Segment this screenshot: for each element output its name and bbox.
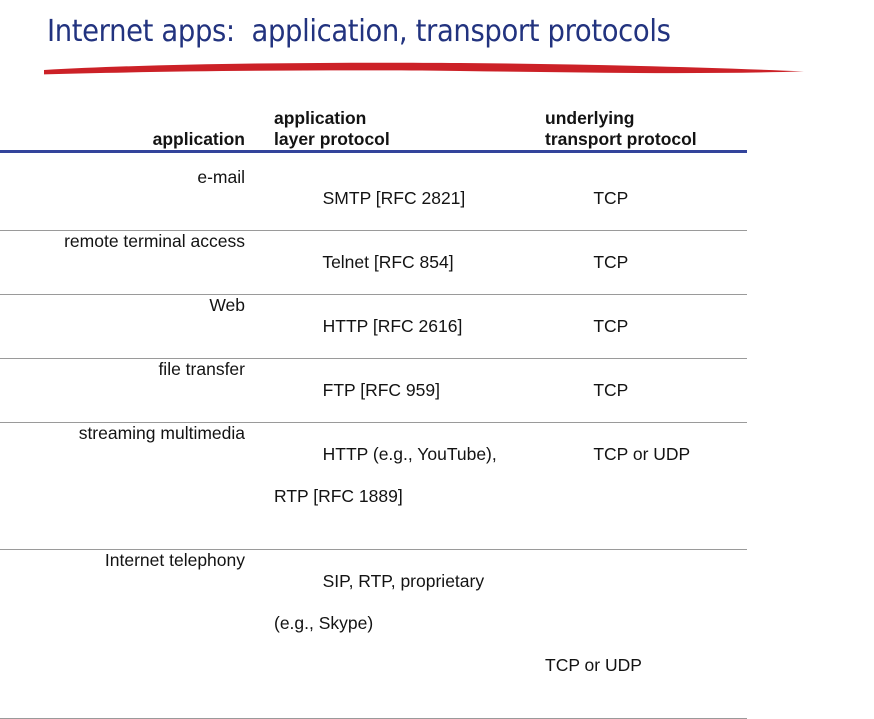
header-spacer-row [0, 152, 747, 168]
table-row: streaming multimedia HTTP (e.g., YouTube… [0, 423, 747, 550]
cell-transport-line1: TCP or UDP [593, 444, 690, 464]
cell-transport: TCP [532, 167, 747, 231]
cell-protocol: SMTP [RFC 2821] [264, 167, 532, 231]
header-spacer-cell-2 [264, 152, 532, 168]
red-underline-stroke [40, 58, 810, 80]
cell-transport-line1: TCP [593, 188, 628, 208]
cell-protocol-line1: SMTP [RFC 2821] [323, 188, 466, 208]
cell-protocol: Telnet [RFC 854] [264, 231, 532, 295]
cell-transport: TCP [532, 295, 747, 359]
table-row: remote terminal access Telnet [RFC 854] … [0, 231, 747, 295]
column-header-app-layer-protocol: application layer protocol [264, 108, 532, 152]
cell-protocol: SIP, RTP, proprietary (e.g., Skype) [264, 550, 532, 719]
column-header-application-line1 [0, 108, 245, 129]
cell-protocol: HTTP (e.g., YouTube), RTP [RFC 1889] [264, 423, 532, 550]
table-row: Web HTTP [RFC 2616] TCP [0, 295, 747, 359]
cell-protocol-line1: Telnet [RFC 854] [322, 252, 453, 272]
header-spacer-cell-3 [532, 152, 747, 168]
column-header-application: application [0, 108, 264, 152]
header-spacer-cell-1 [0, 152, 264, 168]
table-row: Internet telephony SIP, RTP, proprietary… [0, 550, 747, 719]
cell-application: streaming multimedia [0, 423, 264, 550]
table-header-row: application application layer protocol u… [0, 108, 747, 152]
cell-protocol-line2: RTP [RFC 1889] [274, 486, 532, 507]
column-header-underlying-transport-line1: underlying [545, 108, 747, 129]
cell-application: Internet telephony [0, 550, 264, 719]
table-row: e-mail SMTP [RFC 2821] TCP [0, 167, 747, 231]
cell-transport-line1: TCP [593, 316, 628, 336]
column-header-underlying-transport: underlying transport protocol [532, 108, 747, 152]
cell-protocol-line1: HTTP (e.g., YouTube), [323, 444, 497, 464]
cell-protocol: HTTP [RFC 2616] [264, 295, 532, 359]
cell-protocol-line1: FTP [RFC 959] [323, 380, 440, 400]
cell-transport: TCP [532, 359, 747, 423]
column-header-underlying-transport-line2: transport protocol [545, 129, 747, 150]
table-body: e-mail SMTP [RFC 2821] TCP remote termin… [0, 152, 747, 719]
cell-protocol-line1: HTTP [RFC 2616] [323, 316, 463, 336]
cell-protocol-line1: SIP, RTP, proprietary [323, 571, 484, 591]
cell-protocol: FTP [RFC 959] [264, 359, 532, 423]
table-header: application application layer protocol u… [0, 108, 747, 152]
cell-application: file transfer [0, 359, 264, 423]
cell-transport: TCP or UDP [532, 423, 747, 550]
cell-application: remote terminal access [0, 231, 264, 295]
slide-title-block: Internet apps: application, transport pr… [0, 14, 874, 78]
column-header-application-line2: application [0, 129, 245, 150]
protocols-table-container: application application layer protocol u… [0, 108, 874, 719]
cell-transport: . TCP or UDP [532, 550, 747, 719]
cell-application: e-mail [0, 167, 264, 231]
column-header-app-layer-protocol-line1: application [274, 108, 532, 129]
column-header-app-layer-protocol-line2: layer protocol [274, 129, 532, 150]
cell-protocol-line2: (e.g., Skype) [274, 613, 532, 634]
cell-transport: TCP [532, 231, 747, 295]
cell-transport-line2: TCP or UDP [545, 655, 747, 676]
page-title: Internet apps: application, transport pr… [47, 14, 671, 49]
cell-application: Web [0, 295, 264, 359]
cell-transport-line1: TCP [593, 380, 628, 400]
protocols-table: application application layer protocol u… [0, 108, 747, 719]
table-row: file transfer FTP [RFC 959] TCP [0, 359, 747, 423]
cell-transport-line1: TCP [593, 252, 628, 272]
